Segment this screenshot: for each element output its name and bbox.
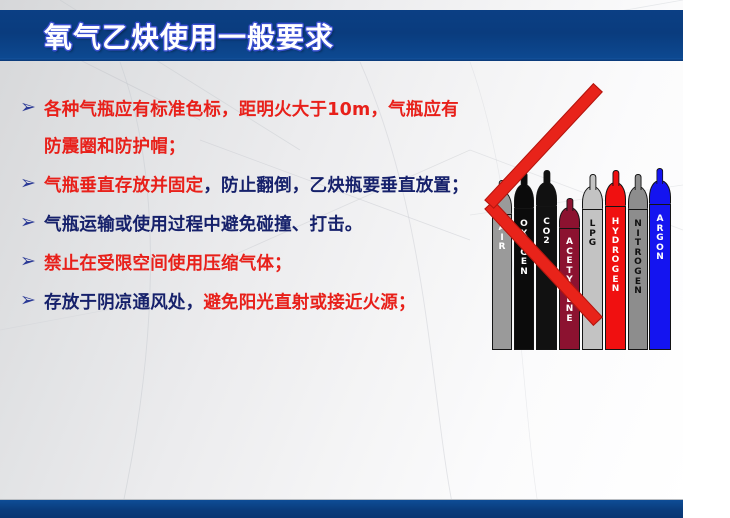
bullet-arrow-icon: ➢ bbox=[20, 207, 44, 237]
bullet-list: ➢各种气瓶应有标准色标，距明火大于10m，气瓶应有防震圈和防护帽；➢气瓶垂直存放… bbox=[20, 92, 475, 324]
cylinder-valve bbox=[589, 174, 596, 190]
bullet-arrow-icon: ➢ bbox=[20, 285, 44, 315]
cylinder-valve bbox=[543, 170, 550, 186]
bullet-arrow-icon: ➢ bbox=[20, 92, 44, 122]
cylinder-valve bbox=[612, 170, 619, 186]
bullet-item: ➢各种气瓶应有标准色标，距明火大于10m，气瓶应有防震圈和防护帽； bbox=[20, 92, 475, 166]
gas-cylinder: A R G O N bbox=[649, 168, 671, 350]
bullet-item: ➢气瓶垂直存放并固定，防止翻倒，乙炔瓶要垂直放置； bbox=[20, 168, 475, 205]
cylinder-label: N I T R O G E N bbox=[628, 220, 648, 336]
cylinder-valve bbox=[656, 168, 663, 184]
bottom-accent-bar bbox=[0, 499, 683, 518]
bullet-text: 各种气瓶应有标准色标，距明火大于10m，气瓶应有防震圈和防护帽； bbox=[44, 92, 475, 166]
bullet-text-segment: 避免阳光直射或接近火源； bbox=[203, 293, 415, 313]
bullet-text: 存放于阴凉通风处，避免阳光直射或接近火源； bbox=[44, 285, 475, 322]
bullet-text-segment: 存放于阴凉通风处， bbox=[44, 293, 203, 313]
cylinder-valve bbox=[566, 198, 573, 211]
bullet-text: 气瓶垂直存放并固定，防止翻倒，乙炔瓶要垂直放置； bbox=[44, 168, 475, 205]
bullet-text: 气瓶运输或使用过程中避免碰撞、打击。 bbox=[44, 207, 475, 244]
cylinder-valve bbox=[635, 174, 642, 190]
gas-cylinders-illustration: A I RO X Y G E NC O 2A C E T Y L E N EL … bbox=[487, 150, 673, 350]
gas-cylinder: O X Y G E N bbox=[514, 172, 534, 350]
cylinder-label: A I R bbox=[492, 224, 512, 336]
bullet-arrow-icon: ➢ bbox=[20, 246, 44, 276]
gas-cylinder: N I T R O G E N bbox=[628, 174, 648, 350]
page-title: 氧气乙炔使用一般要求 bbox=[44, 16, 334, 56]
bullet-text-segment: ，防止翻倒，乙炔瓶要垂直放置； bbox=[203, 176, 469, 196]
bullet-text-segment: 禁止在受限空间使用压缩气体； bbox=[44, 254, 292, 274]
slide-canvas: 氧气乙炔使用一般要求 ➢各种气瓶应有标准色标，距明火大于10m，气瓶应有防震圈和… bbox=[0, 0, 683, 518]
gas-cylinder: H Y D R O G E N bbox=[605, 170, 626, 350]
bullet-item: ➢气瓶运输或使用过程中避免碰撞、打击。 bbox=[20, 207, 475, 244]
bullet-arrow-icon: ➢ bbox=[20, 168, 44, 198]
cylinder-label: A R G O N bbox=[649, 215, 671, 335]
title-bar: 氧气乙炔使用一般要求 bbox=[0, 10, 683, 61]
bullet-item: ➢存放于阴凉通风处，避免阳光直射或接近火源； bbox=[20, 285, 475, 322]
bullet-text-segment: 气瓶垂直存放并固定 bbox=[44, 176, 203, 196]
bullet-text: 禁止在受限空间使用压缩气体； bbox=[44, 246, 475, 283]
cylinder-label: H Y D R O G E N bbox=[605, 218, 626, 336]
bullet-text-segment: 各种气瓶应有标准色标，距明火大于10m，气瓶应有防震圈和防护帽； bbox=[44, 100, 459, 157]
bullet-text-segment: 气瓶运输或使用过程中避免碰撞、打击。 bbox=[44, 215, 363, 235]
bullet-item: ➢禁止在受限空间使用压缩气体； bbox=[20, 246, 475, 283]
